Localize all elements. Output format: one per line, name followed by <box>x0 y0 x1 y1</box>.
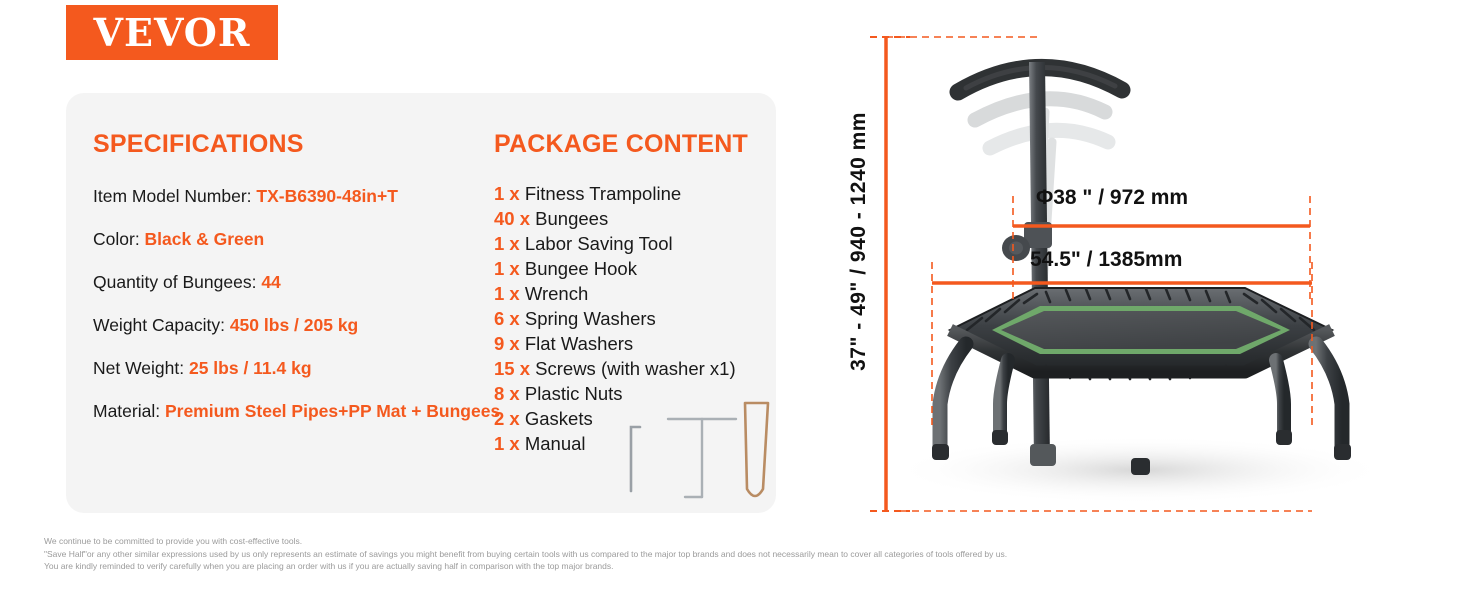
adjustment-knob-center <box>1009 242 1023 255</box>
dimension-label-height: 37" - 49" / 940 - 1240 mm <box>847 112 871 371</box>
package-item-name: Plastic Nuts <box>525 383 623 404</box>
package-item-quantity: 9 x <box>494 333 525 354</box>
disclaimer-line: We continue to be committed to provide y… <box>44 535 1344 548</box>
package-item-quantity: 8 x <box>494 383 525 404</box>
specification-value: Black & Green <box>145 229 265 249</box>
package-item-name: Manual <box>525 433 586 454</box>
specification-label: Item Model Number: <box>93 186 256 206</box>
specification-label: Weight Capacity: <box>93 315 230 335</box>
package-content-section: PACKAGE CONTENT 1 x Fitness Trampoline40… <box>494 130 784 456</box>
specification-label: Net Weight: <box>93 358 189 378</box>
package-item-name: Flat Washers <box>525 333 633 354</box>
package-item-name: Wrench <box>525 283 588 304</box>
package-content-row: 8 x Plastic Nuts <box>494 381 784 406</box>
package-content-row: 1 x Bungee Hook <box>494 256 784 281</box>
package-content-row: 15 x Screws (with washer x1) <box>494 356 784 381</box>
specification-row: Material: Premium Steel Pipes+PP Mat + B… <box>93 401 503 422</box>
package-item-name: Bungees <box>535 208 608 229</box>
leg-left-back <box>940 344 966 452</box>
product-figure: 37" - 49" / 940 - 1240 mm Φ38 " / 972 mm… <box>840 0 1464 530</box>
info-card: SPECIFICATIONS Item Model Number: TX-B63… <box>66 93 776 513</box>
dimension-line-height <box>870 37 910 511</box>
package-item-name: Screws (with washer x1) <box>535 358 735 379</box>
package-content-list: 1 x Fitness Trampoline40 x Bungees1 x La… <box>494 181 784 456</box>
package-content-heading: PACKAGE CONTENT <box>494 130 784 159</box>
specification-row: Weight Capacity: 450 lbs / 205 kg <box>93 315 503 336</box>
post-foot <box>1030 444 1056 466</box>
specification-value: Premium Steel Pipes+PP Mat + Bungees <box>165 401 500 421</box>
package-content-row: 1 x Labor Saving Tool <box>494 231 784 256</box>
dimension-label-width: 54.5" / 1385mm <box>1030 248 1182 272</box>
package-item-name: Labor Saving Tool <box>525 233 673 254</box>
specification-row: Net Weight: 25 lbs / 11.4 kg <box>93 358 503 379</box>
leg-left-mid <box>1000 360 1008 438</box>
package-item-quantity: 1 x <box>494 183 525 204</box>
package-item-quantity: 15 x <box>494 358 535 379</box>
specification-row: Quantity of Bungees: 44 <box>93 272 503 293</box>
package-item-name: Bungee Hook <box>525 258 637 279</box>
specifications-section: SPECIFICATIONS Item Model Number: TX-B63… <box>93 130 503 422</box>
specification-row: Color: Black & Green <box>93 229 503 250</box>
package-content-row: 1 x Fitness Trampoline <box>494 181 784 206</box>
disclaimer-line: "Save Half"or any other similar expressi… <box>44 548 1344 561</box>
leg-right-mid <box>1276 360 1284 438</box>
disclaimer: We continue to be committed to provide y… <box>44 535 1344 573</box>
package-item-quantity: 1 x <box>494 283 525 304</box>
package-content-row: 1 x Manual <box>494 431 784 456</box>
package-content-row: 1 x Wrench <box>494 281 784 306</box>
package-content-row: 2 x Gaskets <box>494 406 784 431</box>
specification-row: Item Model Number: TX-B6390-48in+T <box>93 186 503 207</box>
package-item-quantity: 40 x <box>494 208 535 229</box>
package-content-row: 9 x Flat Washers <box>494 331 784 356</box>
package-content-row: 6 x Spring Washers <box>494 306 784 331</box>
specification-value: 25 lbs / 11.4 kg <box>189 358 312 378</box>
package-item-quantity: 2 x <box>494 408 525 429</box>
package-item-name: Spring Washers <box>525 308 656 329</box>
jump-mat <box>1001 311 1281 349</box>
specification-value: TX-B6390-48in+T <box>256 186 398 206</box>
package-item-quantity: 1 x <box>494 233 525 254</box>
specifications-heading: SPECIFICATIONS <box>93 130 503 159</box>
brand-logo: VEVOR <box>66 5 278 60</box>
package-content-row: 40 x Bungees <box>494 206 784 231</box>
package-item-name: Fitness Trampoline <box>525 183 681 204</box>
specification-label: Color: <box>93 229 145 249</box>
disclaimer-line: You are kindly reminded to verify carefu… <box>44 560 1344 573</box>
dimension-label-diameter: Φ38 " / 972 mm <box>1036 186 1188 210</box>
package-item-name: Gaskets <box>525 408 593 429</box>
package-item-quantity: 1 x <box>494 258 525 279</box>
specification-value: 44 <box>261 272 280 292</box>
package-item-quantity: 1 x <box>494 433 525 454</box>
specification-value: 450 lbs / 205 kg <box>230 315 358 335</box>
brand-wordmark: VEVOR <box>94 10 251 55</box>
leg-right-back <box>1316 344 1342 452</box>
package-item-quantity: 6 x <box>494 308 525 329</box>
specification-label: Material: <box>93 401 165 421</box>
specification-label: Quantity of Bungees: <box>93 272 261 292</box>
specifications-list: Item Model Number: TX-B6390-48in+TColor:… <box>93 186 503 422</box>
